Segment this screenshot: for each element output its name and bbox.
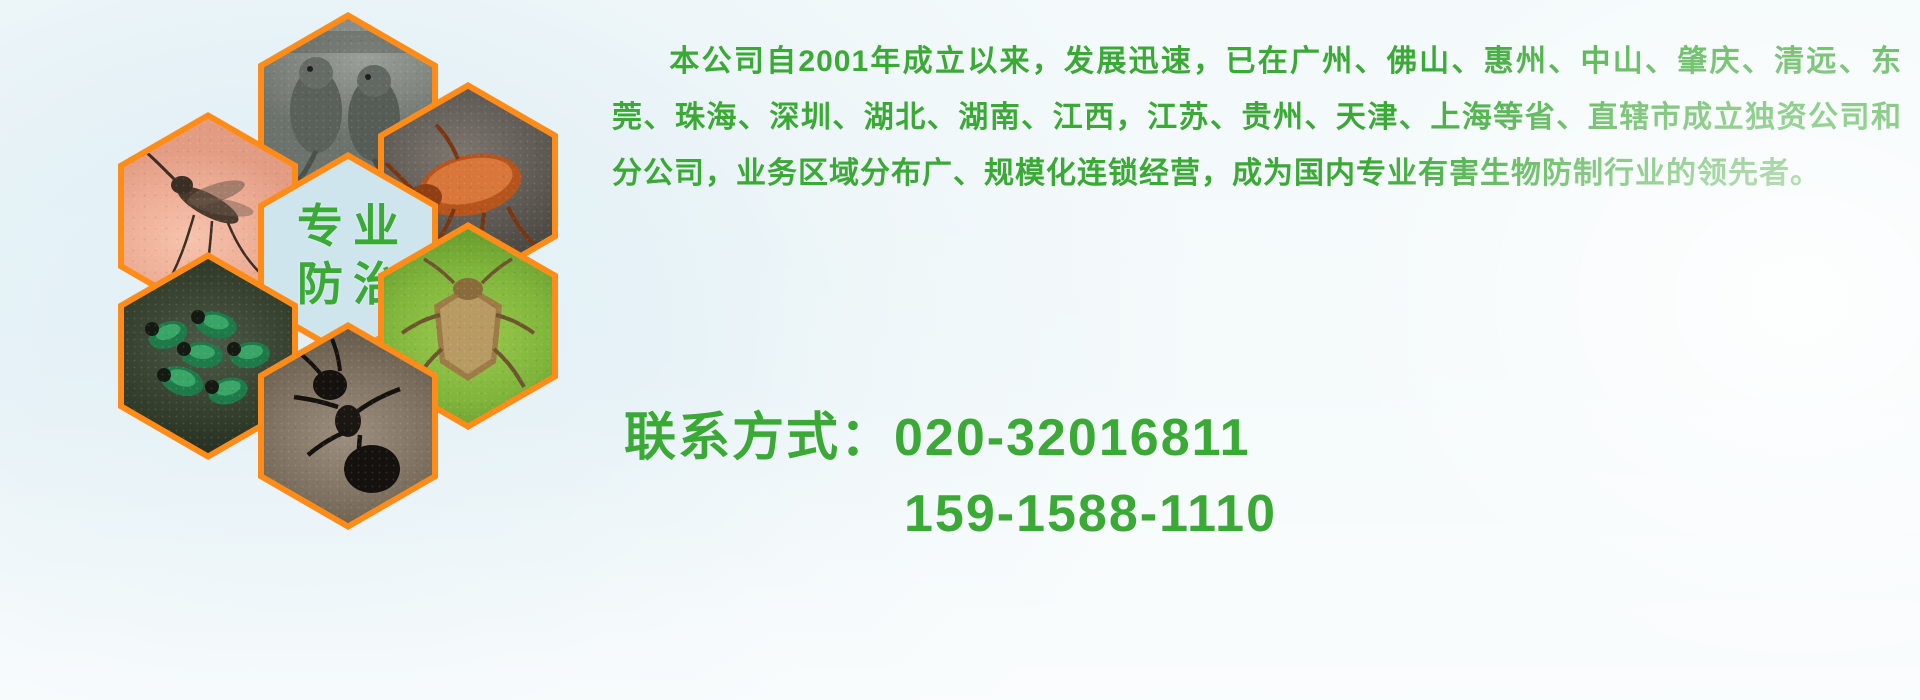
contact-primary-row: 联系方式：020-32016811 bbox=[612, 400, 1902, 476]
phone-primary[interactable]: 020-32016811 bbox=[894, 409, 1251, 467]
about-block: 本公司自2001年成立以来，发展迅速，已在广州、佛山、惠州、中山、肇庆、清远、东… bbox=[612, 34, 1902, 202]
texture-overlay bbox=[264, 329, 432, 523]
contact-secondary-row: 159-1588-1110 bbox=[612, 476, 1902, 552]
ant-photo bbox=[264, 329, 432, 523]
slogan-line-1: 专业 bbox=[287, 201, 409, 253]
contact-block: 联系方式：020-32016811 159-1588-1110 bbox=[612, 400, 1902, 552]
about-paragraph-text: 本公司自2001年成立以来，发展迅速，已在广州、佛山、惠州、中山、肇庆、清远、东… bbox=[612, 45, 1902, 190]
promo-banner: 专业 防治 bbox=[0, 0, 1920, 700]
honeycomb-cluster: 专业 防治 bbox=[0, 0, 620, 700]
ant-image bbox=[264, 329, 432, 523]
phone-secondary[interactable]: 159-1588-1110 bbox=[904, 485, 1277, 543]
about-paragraph: 本公司自2001年成立以来，发展迅速，已在广州、佛山、惠州、中山、肇庆、清远、东… bbox=[612, 34, 1902, 202]
contact-label: 联系方式： bbox=[624, 409, 894, 467]
